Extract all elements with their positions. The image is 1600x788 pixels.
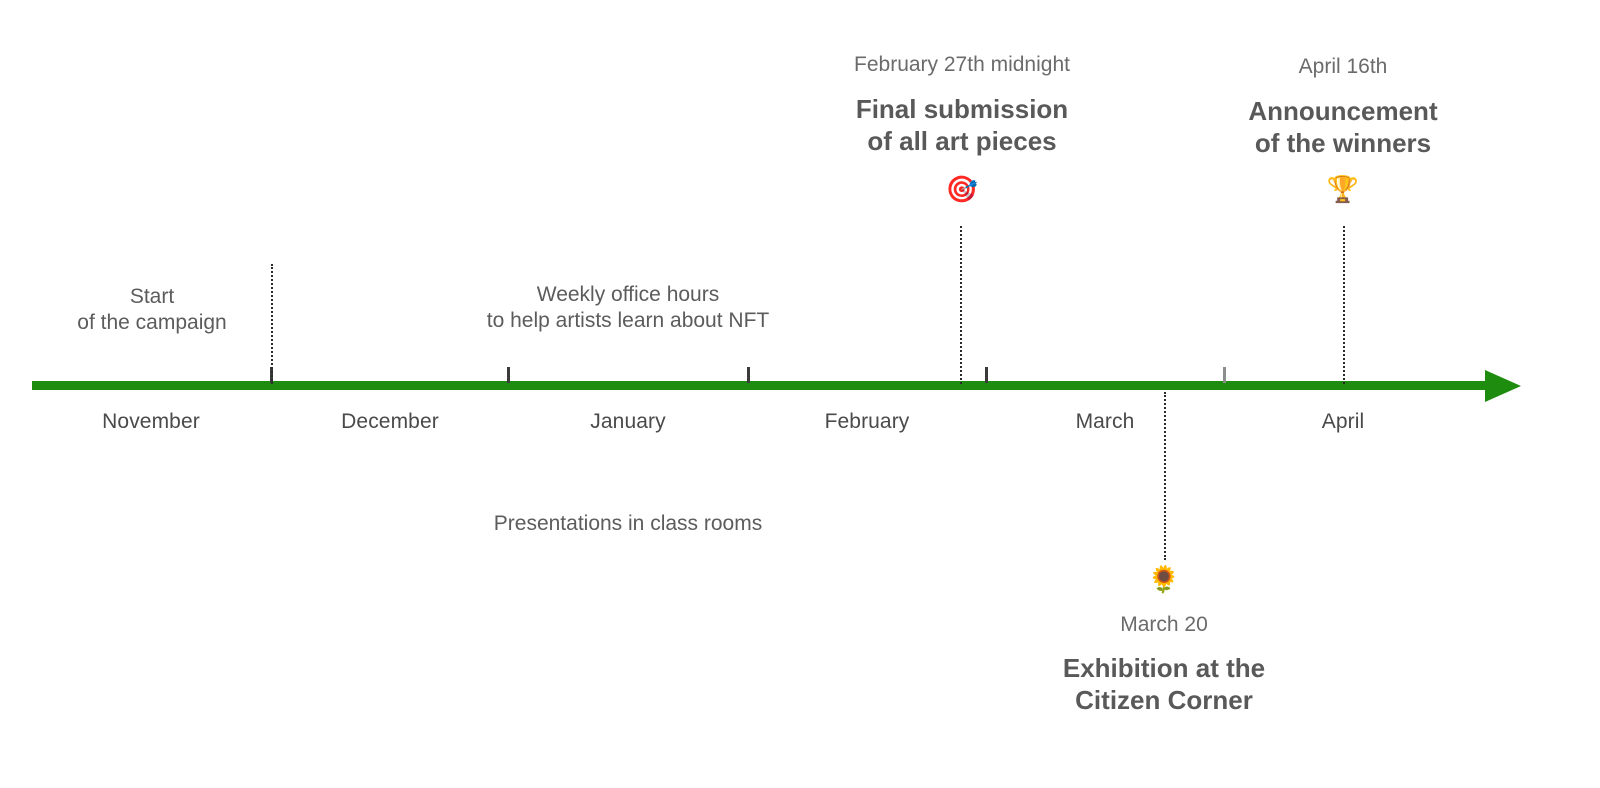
target-dart-icon: 🎯 xyxy=(912,176,1012,202)
axis-tick-march-end xyxy=(1223,367,1226,383)
axis-tick-january-end xyxy=(747,367,750,383)
axis-tick-february-end xyxy=(985,367,988,383)
timeline-axis-line xyxy=(32,381,1492,390)
axis-tick-december-end xyxy=(507,367,510,383)
event-date-exhibition: March 20 xyxy=(964,612,1364,638)
event-note-presentations: Presentations in class rooms xyxy=(428,511,828,537)
trophy-icon: 🏆 xyxy=(1293,176,1393,202)
month-label-november: November xyxy=(51,410,251,434)
month-label-december: December xyxy=(290,410,490,434)
event-headline-announcement: Announcement of the winners xyxy=(1143,96,1543,159)
month-label-april: April xyxy=(1243,410,1443,434)
month-label-february: February xyxy=(767,410,967,434)
event-headline-final-submission: Final submission of all art pieces xyxy=(762,94,1162,157)
connector-final-submission xyxy=(960,226,962,384)
month-label-march: March xyxy=(1005,410,1205,434)
event-headline-exhibition: Exhibition at the Citizen Corner xyxy=(964,653,1364,716)
event-note-start-of-campaign: Start of the campaign xyxy=(2,284,302,335)
event-date-announcement: April 16th xyxy=(1143,54,1543,80)
month-label-january: January xyxy=(528,410,728,434)
connector-announcement xyxy=(1343,226,1345,384)
timeline-diagram: February 27th midnight Final submission … xyxy=(0,0,1600,788)
event-note-weekly-office-hours: Weekly office hours to help artists lear… xyxy=(428,282,828,333)
event-date-final-submission: February 27th midnight xyxy=(762,52,1162,78)
sunflower-icon: 🌻 xyxy=(1114,566,1214,592)
timeline-axis-arrowhead xyxy=(1485,370,1521,402)
